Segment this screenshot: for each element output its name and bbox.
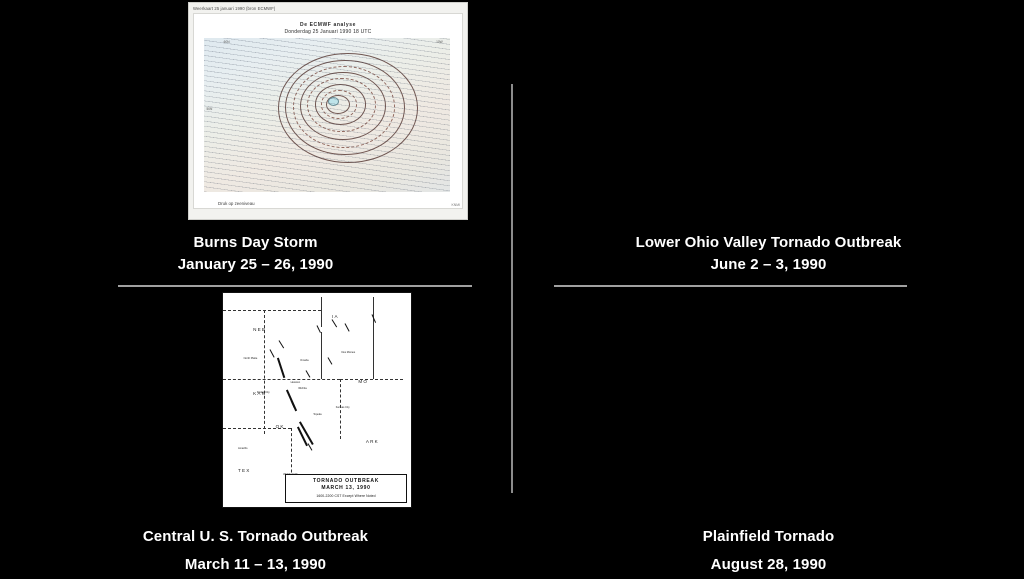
city-label: Amarillo xyxy=(238,447,247,450)
caption-lower-ohio-valley: Lower Ohio Valley Tornado Outbreak June … xyxy=(513,232,1024,276)
slide-canvas: Weerkaart 25 januari 1990 (bron ECMWF) D… xyxy=(0,0,1024,576)
panel-burns-day-storm: Weerkaart 25 januari 1990 (bron ECMWF) D… xyxy=(0,0,511,285)
map-edge-label: 60N xyxy=(224,40,230,44)
isobar-map: 60N 50N 10W xyxy=(204,38,450,192)
caption-burns-day-storm: Burns Day Storm January 25 – 26, 1990 xyxy=(0,232,511,276)
isobar-ring xyxy=(326,95,350,114)
legend-line-1: TORNADO OUTBREAK xyxy=(288,478,404,484)
isobar-ring xyxy=(307,78,375,132)
caption-line-2: March 11 – 13, 1990 xyxy=(0,551,511,579)
figure-header-text: Weerkaart 25 januari 1990 (bron ECMWF) xyxy=(193,6,463,11)
low-pressure-center xyxy=(328,97,339,106)
city-label: North Platte xyxy=(244,357,258,360)
panel-lower-ohio-valley: LOWER OHIO VALLEY TORNADO OUTBREAK OF JU… xyxy=(513,0,1024,285)
tornado-track xyxy=(345,323,350,332)
isobar-ring xyxy=(285,60,405,156)
chart-panel: De ECMWF analyse Donderdag 25 Januari 19… xyxy=(193,13,463,209)
city-label: Des Moines xyxy=(341,351,355,354)
city-label: Topeka xyxy=(313,413,321,416)
map-edge-label: 10W xyxy=(436,40,443,44)
tornado-track xyxy=(328,357,333,364)
isobar-ring xyxy=(321,90,357,118)
tornado-track xyxy=(279,340,285,348)
tornado-track xyxy=(277,358,285,378)
legend-line-2: MARCH 13, 1990 xyxy=(288,485,404,491)
state-label-neb: NEB xyxy=(253,327,266,332)
isobar-ring xyxy=(278,53,418,163)
state-label-ia: IA xyxy=(332,314,339,319)
state-border xyxy=(321,297,322,327)
caption-plainfield-tornado: Plainfield Tornado August 28, 1990 xyxy=(513,523,1024,579)
chart-footer-text: Druk op zeeniveau xyxy=(218,201,255,206)
tornado-track xyxy=(332,319,338,327)
caption-line-2: June 2 – 3, 1990 xyxy=(513,254,1024,276)
state-label-mo: MO xyxy=(358,379,368,384)
chart-title-line-2: Donderdag 25 Januari 1990 18 UTC xyxy=(194,29,462,35)
isobar-ring xyxy=(315,84,366,125)
legend-line-3: 1600-2200 CST Except Where Noted xyxy=(288,494,404,498)
caption-line-1: Burns Day Storm xyxy=(0,232,511,254)
state-border xyxy=(223,310,321,311)
figure-central-us-map: NEB IA KAN MO OK ARK TEX North Platte Om… xyxy=(222,292,412,508)
map-edge-label: 50N xyxy=(206,107,212,111)
state-label-ok: OK xyxy=(276,424,285,429)
caption-line-2: January 25 – 26, 1990 xyxy=(0,254,511,276)
state-label-ark: ARK xyxy=(366,439,379,444)
state-label-tex: TEX xyxy=(238,468,251,473)
tornado-track xyxy=(270,349,275,358)
map-legend: TORNADO OUTBREAK MARCH 13, 1990 1600-220… xyxy=(285,474,407,503)
caption-central-us-outbreak: Central U. S. Tornado Outbreak March 11 … xyxy=(0,523,511,579)
city-label: Hesston xyxy=(291,381,301,384)
caption-line-1: Plainfield Tornado xyxy=(513,523,1024,551)
tornado-track xyxy=(305,370,310,377)
panel-central-us-outbreak: NEB IA KAN MO OK ARK TEX North Platte Om… xyxy=(0,287,511,576)
caption-line-1: Lower Ohio Valley Tornado Outbreak xyxy=(513,232,1024,254)
isobar-ring xyxy=(300,72,386,140)
city-label: Omaha xyxy=(300,359,309,362)
city-label: Dodge City xyxy=(257,391,270,394)
city-label: Wichita xyxy=(298,387,307,390)
panel-plainfield-tornado: PATH OF MESOCYCLONE Oswego Wheatland Pla… xyxy=(513,287,1024,576)
figure-ecmwf-weather-chart: Weerkaart 25 januari 1990 (bron ECMWF) D… xyxy=(188,2,468,220)
chart-title-line-1: De ECMWF analyse xyxy=(194,22,462,28)
isobar-ring xyxy=(293,66,396,148)
state-border xyxy=(340,379,404,380)
city-label: Kansas City xyxy=(336,406,350,409)
state-border xyxy=(321,332,322,379)
state-border xyxy=(373,297,374,378)
chart-corner-note: KNMI xyxy=(452,203,460,207)
caption-line-1: Central U. S. Tornado Outbreak xyxy=(0,523,511,551)
caption-line-2: August 28, 1990 xyxy=(513,551,1024,579)
state-border xyxy=(223,379,340,380)
